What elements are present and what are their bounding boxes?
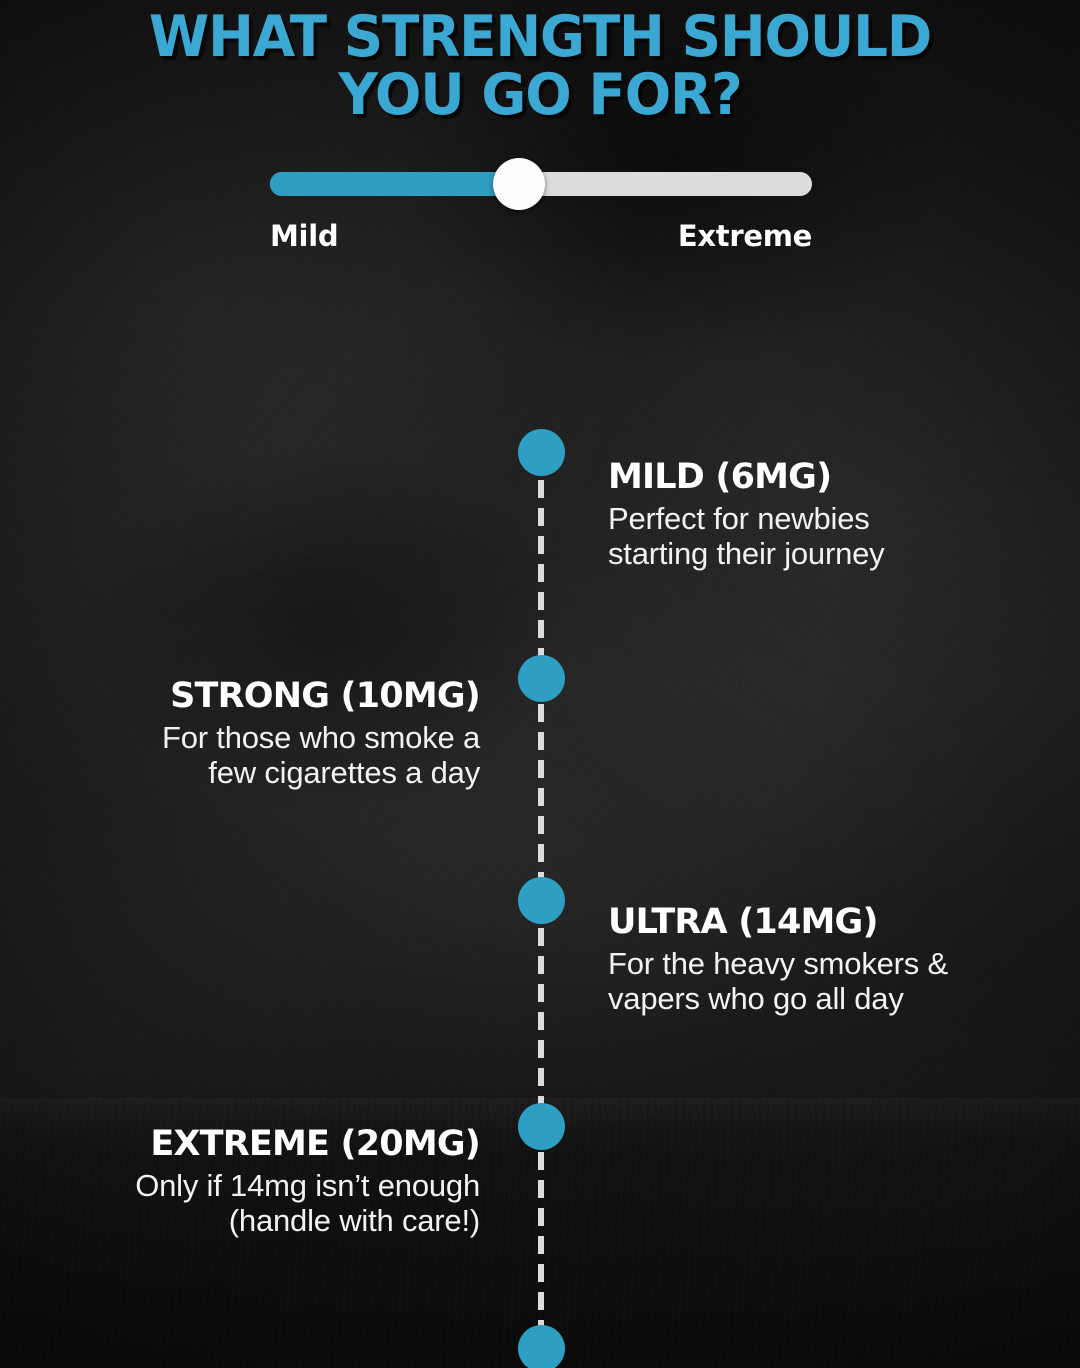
timeline-item-mild-desc-line-2: starting their journey: [608, 536, 1038, 571]
timeline-item-mild-heading: MILD (6MG): [608, 458, 1038, 496]
timeline-item-ultra-description: For the heavy smokers & vapers who go al…: [608, 946, 1038, 1016]
timeline-dot-ultra[interactable]: [518, 877, 565, 924]
timeline-dot-mild[interactable]: [518, 429, 565, 476]
timeline-item-extreme-description: Only if 14mg isn’t enough (handle with c…: [48, 1168, 480, 1238]
timeline-item-mild-desc-line-1: Perfect for newbies: [608, 501, 1038, 536]
timeline-item-extreme-heading: EXTREME (20MG): [48, 1125, 480, 1163]
timeline-item-ultra-desc-line-2: vapers who go all day: [608, 981, 1038, 1016]
timeline-item-ultra: ULTRA (14MG) For the heavy smokers & vap…: [608, 903, 1038, 1016]
timeline-item-extreme-desc-line-2: (handle with care!): [48, 1203, 480, 1238]
timeline-item-strong: STRONG (10MG) For those who smoke a few …: [48, 677, 480, 790]
timeline-item-strong-desc-line-1: For those who smoke a: [48, 720, 480, 755]
timeline-item-strong-description: For those who smoke a few cigarettes a d…: [48, 720, 480, 790]
timeline-dot-end[interactable]: [518, 1325, 565, 1368]
timeline-item-ultra-desc-line-1: For the heavy smokers &: [608, 946, 1038, 981]
timeline-item-mild: MILD (6MG) Perfect for newbies starting …: [608, 458, 1038, 571]
timeline-item-mild-description: Perfect for newbies starting their journ…: [608, 501, 1038, 571]
timeline-item-strong-desc-line-2: few cigarettes a day: [48, 755, 480, 790]
timeline-dot-extreme[interactable]: [518, 1103, 565, 1150]
timeline-item-extreme-desc-line-1: Only if 14mg isn’t enough: [48, 1168, 480, 1203]
timeline-item-extreme: EXTREME (20MG) Only if 14mg isn’t enough…: [48, 1125, 480, 1238]
strength-timeline: MILD (6MG) Perfect for newbies starting …: [0, 0, 1080, 1368]
timeline-item-ultra-heading: ULTRA (14MG): [608, 903, 1038, 941]
timeline-dot-strong[interactable]: [518, 655, 565, 702]
timeline-item-strong-heading: STRONG (10MG): [48, 677, 480, 715]
